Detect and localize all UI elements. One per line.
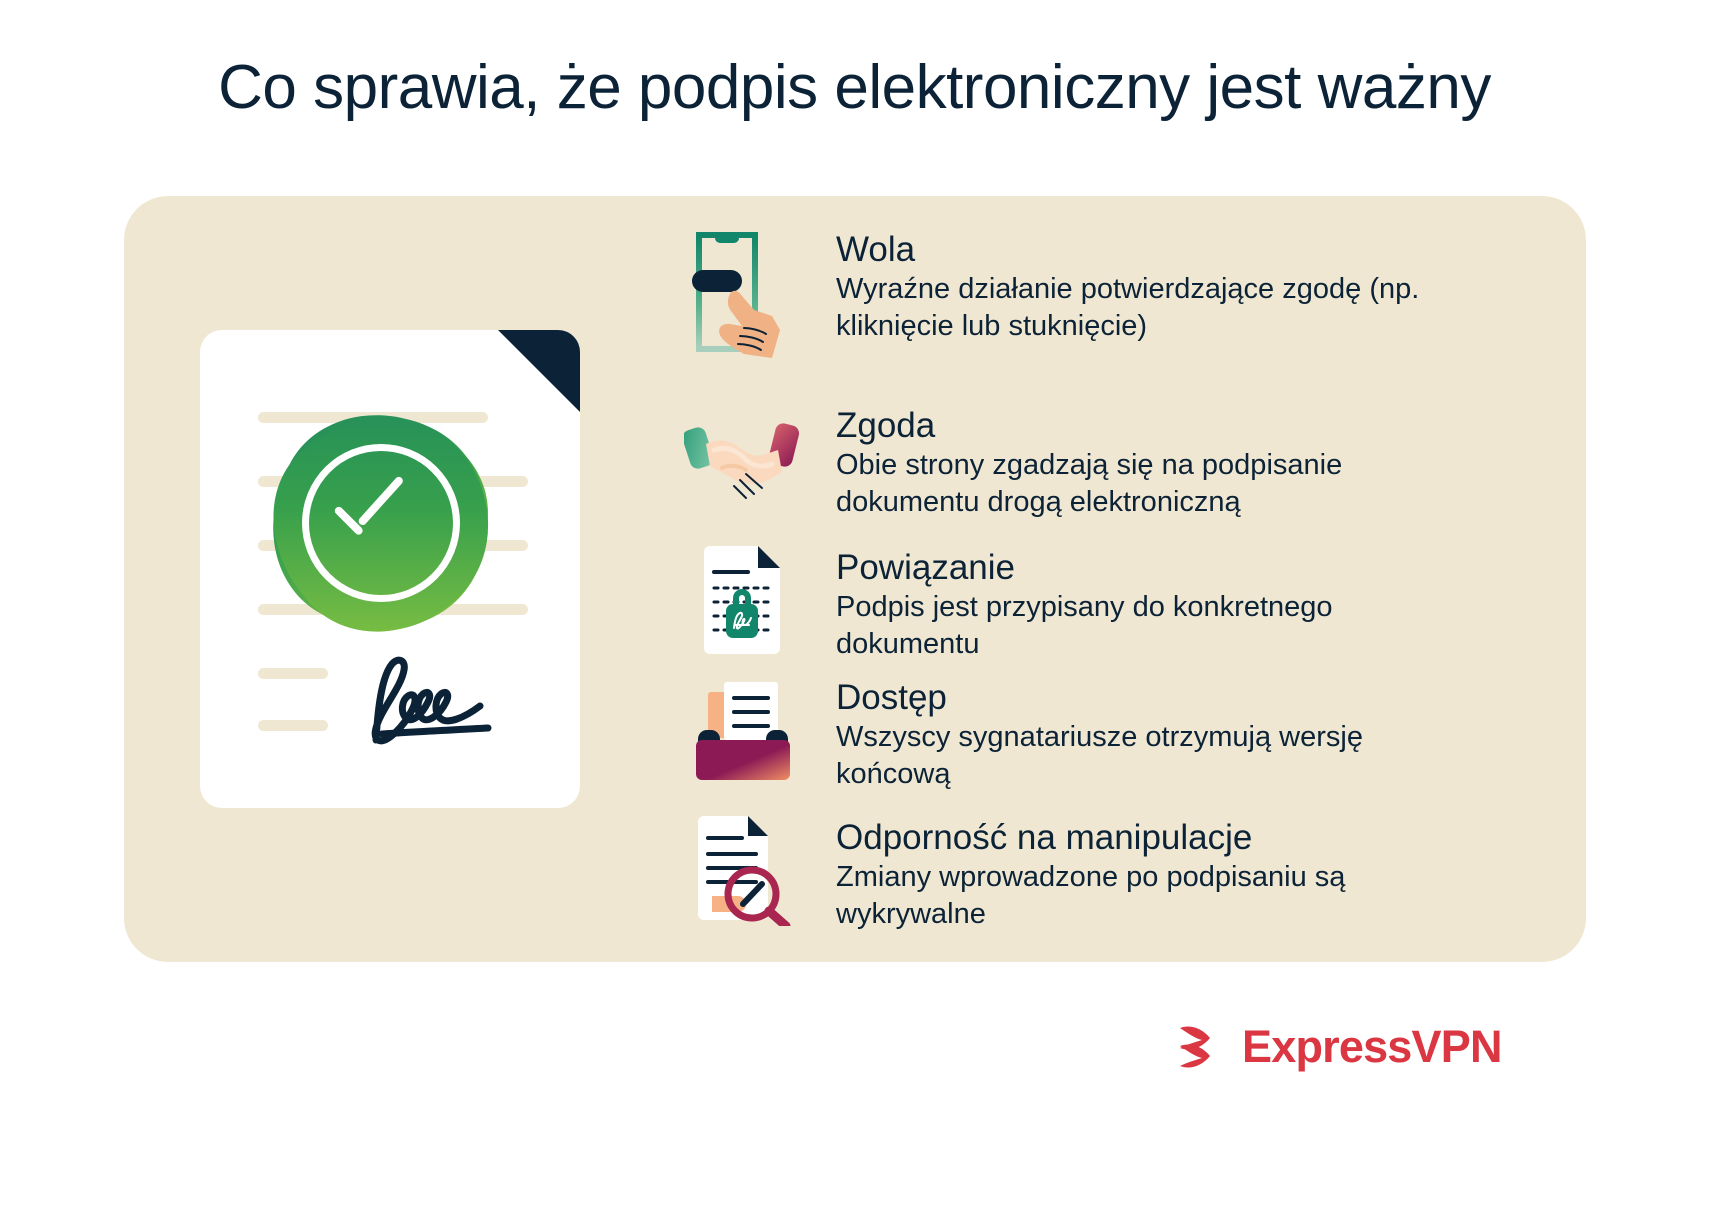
phone-tap-icon <box>680 228 800 378</box>
infographic-page: Co sprawia, że podpis elektroniczny jest… <box>0 0 1709 1217</box>
document-text-line <box>258 668 328 679</box>
expressvpn-logo-icon <box>1168 1016 1230 1078</box>
locked-document-icon <box>680 546 800 666</box>
logo-wordmark: ExpressVPN <box>1242 1021 1502 1073</box>
document-text-line <box>258 720 328 731</box>
page-title: Co sprawia, że podpis elektroniczny jest… <box>0 52 1709 123</box>
list-item-title: Zgoda <box>836 406 1436 445</box>
list-item-text: Zgoda Obie strony zgadzają się na podpis… <box>800 404 1436 520</box>
document-fold-corner-icon <box>498 330 580 412</box>
inbox-tray-icon <box>680 676 800 796</box>
expressvpn-logo: ExpressVPN <box>1168 1016 1502 1078</box>
list-item-text: Odporność na manipulacje Zmiany wprowadz… <box>800 816 1436 932</box>
list-item: Dostęp Wszyscy sygnatariusze otrzymują w… <box>680 676 1520 796</box>
content-card: Wola Wyraźne działanie potwierdzające zg… <box>124 196 1586 962</box>
signed-document-illustration <box>200 330 580 808</box>
list-item-text: Wola Wyraźne działanie potwierdzające zg… <box>800 228 1436 344</box>
list-item: Wola Wyraźne działanie potwierdzające zg… <box>680 228 1520 378</box>
hand-pointer-icon <box>714 286 782 358</box>
signature-scribble-icon <box>348 648 538 758</box>
list-item-title: Odporność na manipulacje <box>836 818 1436 857</box>
document-magnifier-icon <box>680 816 800 936</box>
list-item: Powiązanie Podpis jest przypisany do kon… <box>680 546 1520 666</box>
list-item-description: Obie strony zgadzają się na podpisanie d… <box>836 447 1436 520</box>
handshake-icon <box>680 404 800 524</box>
list-item-description: Wyraźne działanie potwierdzające zgodę (… <box>836 271 1436 344</box>
list-item-description: Podpis jest przypisany do konkretnego do… <box>836 589 1436 662</box>
list-item: Odporność na manipulacje Zmiany wprowadz… <box>680 816 1520 936</box>
list-item-title: Powiązanie <box>836 548 1436 587</box>
list-item-title: Wola <box>836 230 1436 269</box>
list-item-title: Dostęp <box>836 678 1436 717</box>
list-item: Zgoda Obie strony zgadzają się na podpis… <box>680 404 1520 524</box>
list-item-text: Dostęp Wszyscy sygnatariusze otrzymują w… <box>800 676 1436 792</box>
list-item-description: Wszyscy sygnatariusze otrzymują wersję k… <box>836 719 1436 792</box>
check-seal-icon <box>274 416 488 630</box>
list-item-text: Powiązanie Podpis jest przypisany do kon… <box>800 546 1436 662</box>
list-item-description: Zmiany wprowadzone po podpisaniu są wykr… <box>836 859 1436 932</box>
